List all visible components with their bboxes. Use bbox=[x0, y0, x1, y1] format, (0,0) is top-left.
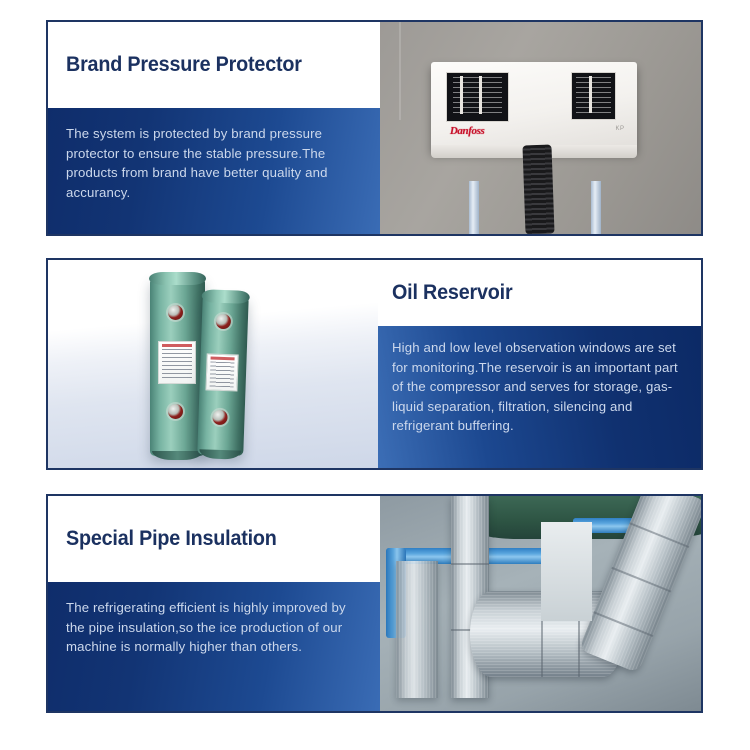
feature-panels-page: Brand Pressure Protector The system is p… bbox=[0, 0, 750, 750]
panel-body: The refrigerating efficient is highly im… bbox=[48, 582, 380, 711]
label-accent-bar bbox=[210, 357, 235, 361]
panel-image-pipe-insulation bbox=[380, 496, 701, 711]
label-text-lines bbox=[209, 362, 234, 388]
panel-text-column: Oil Reservoir High and low level observa… bbox=[378, 260, 701, 468]
page-title: Oil Reservoir bbox=[392, 281, 512, 304]
panel-body: High and low level observation windows a… bbox=[378, 326, 701, 468]
capillary-tube bbox=[591, 181, 601, 234]
panel-image-oil-reservoir bbox=[48, 260, 378, 468]
pipe-band bbox=[629, 522, 689, 548]
panel-image-pressure-switch: Danfoss KP bbox=[380, 22, 701, 234]
sight-glass-port bbox=[215, 314, 231, 330]
case-mark-label: KP bbox=[615, 126, 624, 132]
equipment-panel bbox=[541, 522, 592, 621]
panel-body-text: The refrigerating efficient is highly im… bbox=[66, 598, 364, 657]
panel-header: Brand Pressure Protector bbox=[48, 22, 380, 108]
tank-foot bbox=[152, 451, 202, 460]
sight-glass-port bbox=[212, 410, 228, 426]
danfoss-logo: Danfoss bbox=[450, 125, 485, 137]
panel-header: Oil Reservoir bbox=[378, 260, 701, 326]
panel-text-column: Brand Pressure Protector The system is p… bbox=[48, 22, 380, 234]
sight-glass-port bbox=[168, 305, 183, 320]
panel-body: The system is protected by brand pressur… bbox=[48, 108, 380, 234]
page-title: Special Pipe Insulation bbox=[66, 527, 277, 550]
label-accent-bar bbox=[162, 344, 192, 347]
brass-fitting bbox=[462, 149, 486, 183]
pipe-band bbox=[451, 563, 490, 565]
tank-cap bbox=[149, 272, 206, 285]
pressure-scale-window-right bbox=[571, 72, 616, 120]
oil-tank-small bbox=[197, 295, 249, 457]
panel-body-text: The system is protected by brand pressur… bbox=[66, 124, 364, 202]
pressure-switch-housing: Danfoss KP bbox=[431, 62, 636, 151]
tank-spec-label bbox=[205, 354, 239, 392]
panel-body-text: High and low level observation windows a… bbox=[392, 338, 687, 436]
insulated-pipe-background bbox=[396, 561, 438, 699]
label-text-lines bbox=[162, 349, 192, 380]
oil-tank-large bbox=[150, 277, 204, 456]
wall-seam bbox=[399, 22, 401, 120]
tank-cap bbox=[201, 290, 249, 305]
tank-foot bbox=[199, 450, 242, 460]
tank-spec-label bbox=[158, 341, 196, 384]
panel-header: Special Pipe Insulation bbox=[48, 496, 380, 582]
scale-ticks bbox=[576, 77, 611, 116]
feature-panel-special-pipe-insulation: Special Pipe Insulation The refrigeratin… bbox=[46, 494, 703, 713]
pipe-band bbox=[611, 567, 671, 593]
insulated-pipework-photo bbox=[380, 496, 701, 711]
panel-text-column: Special Pipe Insulation The refrigeratin… bbox=[48, 496, 380, 711]
pipe-band bbox=[593, 612, 653, 638]
feature-panel-brand-pressure-protector: Brand Pressure Protector The system is p… bbox=[46, 20, 703, 236]
flexible-conduit bbox=[523, 144, 555, 234]
scale-needle bbox=[589, 76, 592, 113]
capillary-tube bbox=[469, 181, 479, 234]
pressure-scale-window-left bbox=[446, 72, 510, 122]
scale-needle bbox=[460, 76, 463, 114]
page-title: Brand Pressure Protector bbox=[66, 53, 302, 76]
scale-needle bbox=[479, 76, 482, 114]
pressure-switch-photo: Danfoss KP bbox=[380, 22, 701, 234]
brass-fitting bbox=[584, 149, 608, 183]
feature-panel-oil-reservoir: Oil Reservoir High and low level observa… bbox=[46, 258, 703, 470]
oil-reservoir-photo bbox=[48, 260, 378, 468]
sight-glass-port bbox=[168, 404, 183, 419]
